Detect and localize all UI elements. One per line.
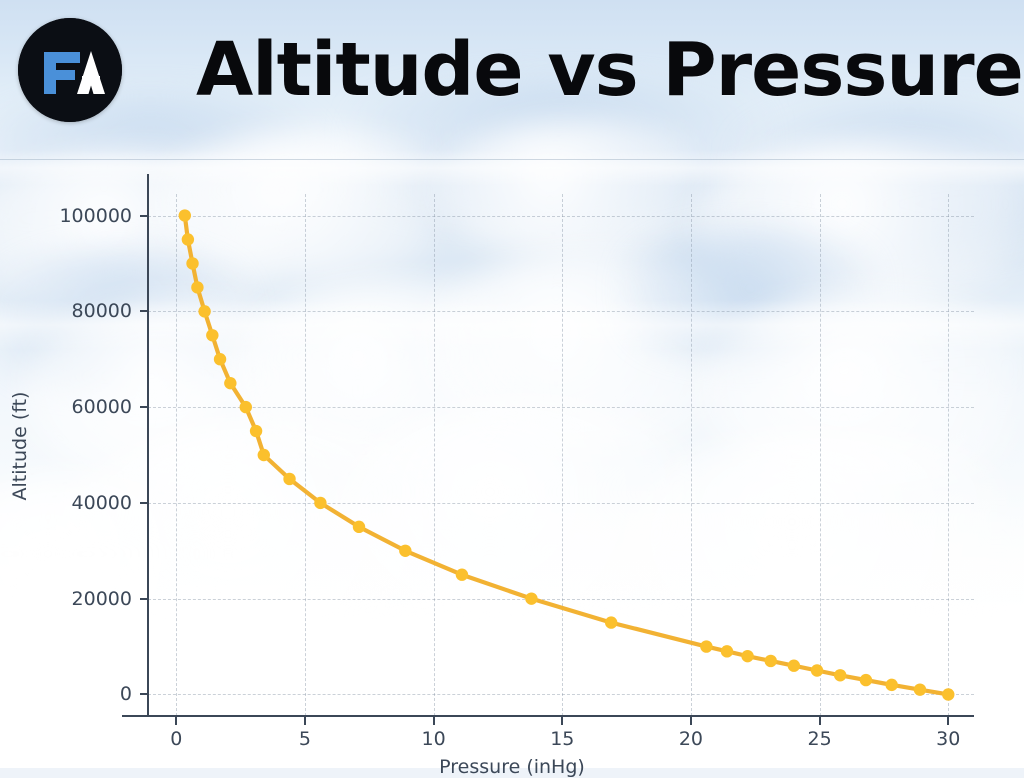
y-axis-tick [140, 502, 148, 504]
x-axis-tick [175, 717, 177, 725]
y-axis-tick-label: 20000 [0, 588, 132, 610]
data-point [700, 640, 712, 652]
data-point [885, 679, 897, 691]
x-axis-tick-label: 25 [808, 728, 832, 750]
data-point [525, 592, 537, 604]
data-point [214, 353, 226, 365]
logo[interactable] [18, 18, 122, 122]
x-axis-tick-label: 30 [936, 728, 960, 750]
x-axis-tick [690, 717, 692, 725]
y-axis-title: Altitude (ft) [9, 186, 31, 706]
data-point [314, 497, 326, 509]
y-axis-tick-label: 40000 [0, 492, 132, 514]
data-point [456, 569, 468, 581]
y-axis-tick-label: 100000 [0, 205, 132, 227]
data-point [721, 645, 733, 657]
data-point [191, 281, 203, 293]
x-axis-title: Pressure (inHg) [0, 756, 1024, 778]
data-point [224, 377, 236, 389]
data-point [186, 257, 198, 269]
data-point [741, 650, 753, 662]
fa-logo-icon [18, 18, 122, 122]
data-point [834, 669, 846, 681]
x-axis-tick-label: 5 [299, 728, 311, 750]
x-axis-tick [947, 717, 949, 725]
x-axis-tick-label: 0 [170, 728, 182, 750]
data-point [914, 683, 926, 695]
x-axis-tick-label: 20 [679, 728, 703, 750]
data-point [605, 616, 617, 628]
x-axis-tick-label: 10 [422, 728, 446, 750]
data-point [206, 329, 218, 341]
series-markers [179, 209, 955, 700]
y-axis-tick-label: 80000 [0, 300, 132, 322]
data-point [788, 660, 800, 672]
y-axis-tick-label: 60000 [0, 396, 132, 418]
x-axis-tick [433, 717, 435, 725]
data-point [399, 545, 411, 557]
data-point [240, 401, 252, 413]
data-point [258, 449, 270, 461]
y-axis-tick [140, 693, 148, 695]
data-point [765, 655, 777, 667]
data-series-altitude-vs-pressure [148, 194, 974, 716]
y-axis-tick [140, 215, 148, 217]
data-point [198, 305, 210, 317]
header: Altitude vs Pressure [0, 0, 1024, 160]
data-point [182, 233, 194, 245]
y-axis-tick [140, 310, 148, 312]
y-axis-tick-label: 0 [0, 683, 132, 705]
data-point [179, 209, 191, 221]
data-point [283, 473, 295, 485]
x-axis-tick [819, 717, 821, 725]
x-axis-tick-label: 15 [550, 728, 574, 750]
y-axis-tick [140, 406, 148, 408]
page-title: Altitude vs Pressure [196, 22, 1006, 118]
data-point [811, 664, 823, 676]
x-axis-tick [561, 717, 563, 725]
data-point [942, 688, 954, 700]
x-axis-tick [304, 717, 306, 725]
data-point [860, 674, 872, 686]
data-point [353, 521, 365, 533]
chart-region: Pressure (inHg) Altitude (ft) 0200004000… [0, 160, 1024, 768]
series-line [185, 216, 948, 695]
data-point [250, 425, 262, 437]
y-axis-tick [140, 598, 148, 600]
